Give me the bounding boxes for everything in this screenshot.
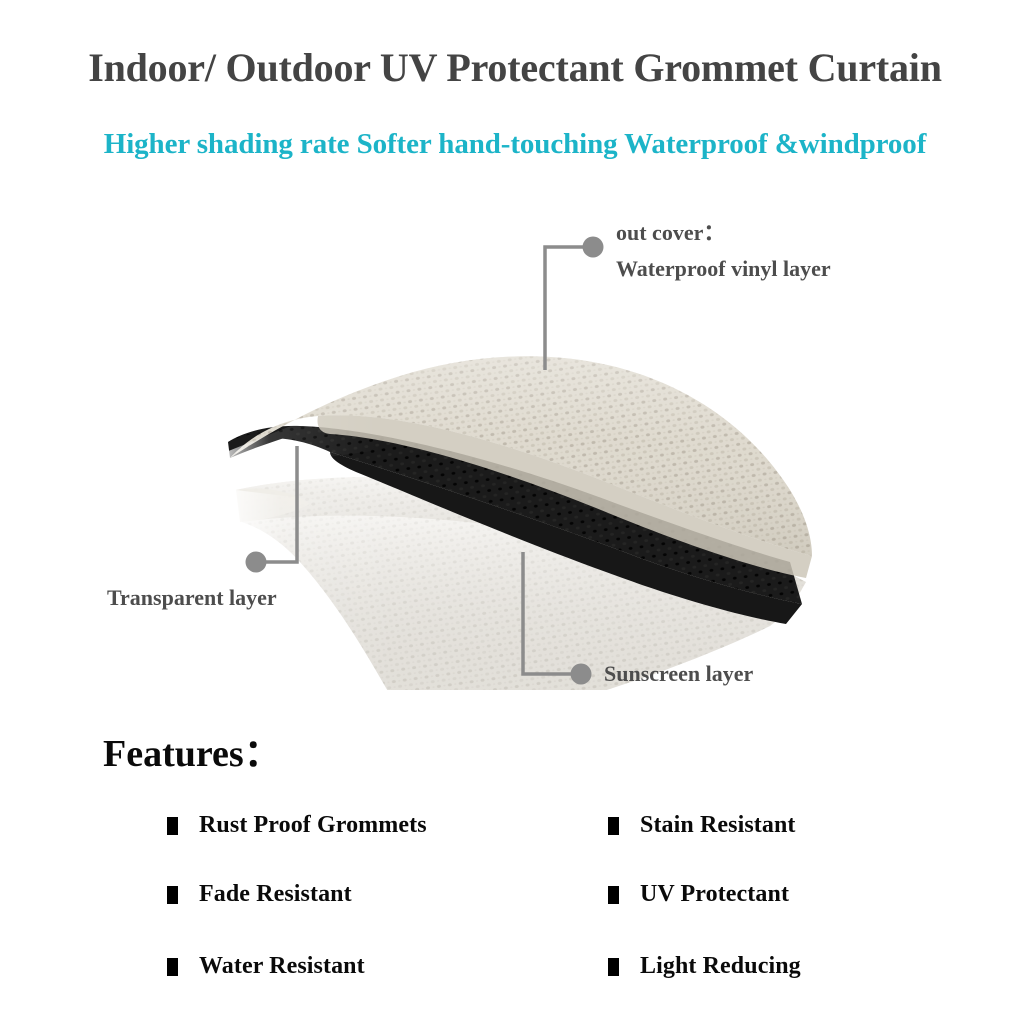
- bullet-square-icon: [167, 958, 178, 976]
- callout-transparent-layer-label: Transparent layer: [107, 585, 277, 610]
- feature-label: UV Protectant: [640, 881, 789, 908]
- feature-label: Fade Resistant: [199, 881, 352, 908]
- bullet-square-icon: [167, 817, 178, 835]
- callout-out-cover-line2: Waterproof vinyl layer: [616, 251, 831, 287]
- feature-label: Rust Proof Grommets: [199, 812, 427, 839]
- bullet-square-icon: [167, 886, 178, 904]
- leader-dot-out-cover: [583, 237, 604, 258]
- callout-sunscreen-layer: Sunscreen layer: [604, 656, 753, 692]
- leader-dot-sunscreen: [571, 664, 592, 685]
- feature-label: Stain Resistant: [640, 812, 796, 839]
- features-list: Rust Proof Grommets Fade Resistant Water…: [0, 806, 1024, 1016]
- leader-dot-transparent: [246, 552, 267, 573]
- feature-item: Fade Resistant: [167, 881, 352, 908]
- page-subtitle: Higher shading rate Softer hand-touching…: [12, 128, 1018, 161]
- callout-out-cover: out cover： Waterproof vinyl layer: [616, 215, 831, 287]
- bullet-square-icon: [608, 886, 619, 904]
- feature-label: Water Resistant: [199, 953, 365, 980]
- feature-item: Water Resistant: [167, 953, 365, 980]
- feature-item: Light Reducing: [608, 953, 801, 980]
- callout-transparent-layer: Transparent layer: [107, 580, 277, 616]
- features-heading: Features：: [103, 722, 282, 777]
- feature-item: Rust Proof Grommets: [167, 812, 427, 839]
- feature-label: Light Reducing: [640, 953, 801, 980]
- page-title: Indoor/ Outdoor UV Protectant Grommet Cu…: [12, 44, 1018, 91]
- feature-item: UV Protectant: [608, 881, 789, 908]
- callout-out-cover-line1: out cover：: [616, 220, 725, 245]
- feature-item: Stain Resistant: [608, 812, 796, 839]
- bullet-square-icon: [608, 958, 619, 976]
- callout-sunscreen-layer-label: Sunscreen layer: [604, 661, 753, 686]
- bullet-square-icon: [608, 817, 619, 835]
- leader-out-cover: [545, 247, 586, 370]
